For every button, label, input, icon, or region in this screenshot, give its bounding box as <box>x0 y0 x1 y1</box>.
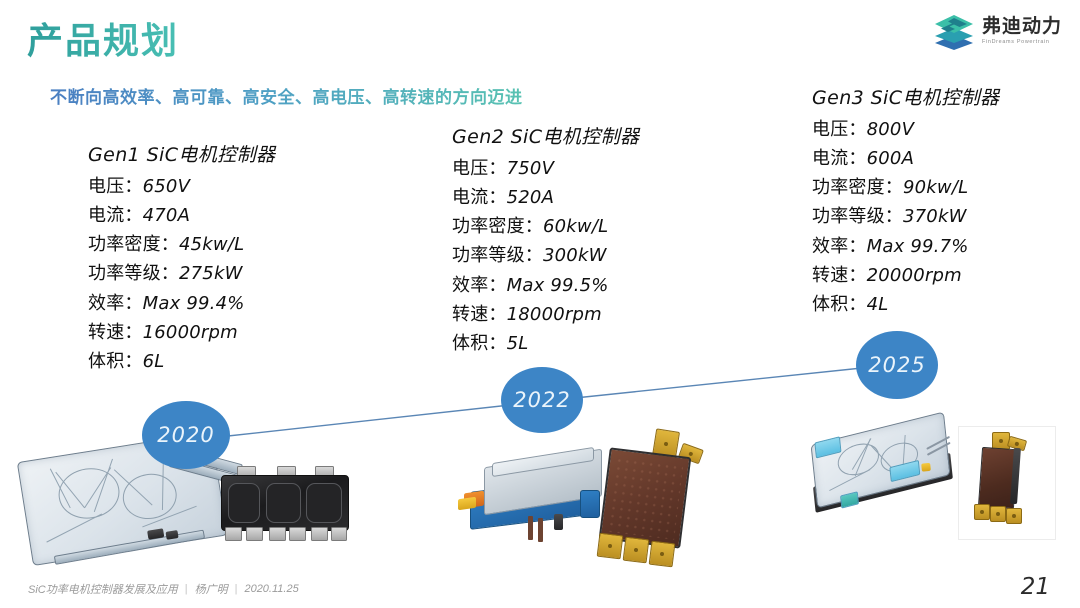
spec-value: 18000rpm <box>507 304 602 325</box>
spec-row-volume: 体积：6L <box>88 347 275 376</box>
spec-row-power-density: 功率密度：45kw/L <box>88 230 275 259</box>
spec-label: 功率等级： <box>452 245 543 266</box>
spec-label: 体积： <box>88 351 143 372</box>
spec-row-speed: 转速：16000rpm <box>88 318 275 347</box>
spec-value: 800V <box>867 119 914 140</box>
spec-value: 20000rpm <box>867 265 962 286</box>
spec-value: 300kW <box>543 245 607 266</box>
spec-row-power-density: 功率密度：60kw/L <box>452 212 639 241</box>
gen2-copper-pinfin-module-photo <box>592 430 704 572</box>
spec-label: 电压： <box>812 119 867 140</box>
year-bubble-2022[interactable]: 2022 <box>501 367 583 433</box>
spec-label: 功率密度： <box>812 177 903 198</box>
footer-date: 2020.11.25 <box>244 583 298 595</box>
gen2-controller-cad-render <box>458 454 608 550</box>
spec-row-efficiency: 效率：Max 99.4% <box>88 289 275 318</box>
spec-row-volume: 体积：5L <box>452 329 639 358</box>
spec-value: 90kw/L <box>903 177 968 198</box>
spec-row-voltage: 电压：750V <box>452 154 639 183</box>
spec-row-power-density: 功率密度：90kw/L <box>812 173 999 202</box>
spec-row-speed: 转速：20000rpm <box>812 261 999 290</box>
spec-value: 6L <box>143 351 165 372</box>
spec-row-voltage: 电压：800V <box>812 115 999 144</box>
company-logo: 弗迪动力 FinDreams Powertrain <box>933 12 1062 50</box>
spec-label: 效率： <box>812 236 867 257</box>
gen3-brown-power-module-photo <box>958 426 1054 538</box>
spec-row-efficiency: 效率：Max 99.7% <box>812 232 999 261</box>
spec-row-voltage: 电压：650V <box>88 172 275 201</box>
spec-label: 功率等级： <box>88 263 179 284</box>
spec-row-efficiency: 效率：Max 99.5% <box>452 271 639 300</box>
spec-row-current: 电流：470A <box>88 201 275 230</box>
spec-label: 转速： <box>812 265 867 286</box>
spec-label: 电流： <box>452 187 507 208</box>
year-bubble-2020[interactable]: 2020 <box>142 401 230 469</box>
spec-block-gen1: Gen1 SiC电机控制器 电压：650V 电流：470A 功率密度：45kw/… <box>88 140 275 376</box>
footer-separator-2: | <box>235 583 238 595</box>
spec-label: 电压： <box>452 158 507 179</box>
spec-value: Max 99.4% <box>143 293 245 314</box>
spec-value: 750V <box>507 158 554 179</box>
spec-value: 16000rpm <box>143 322 238 343</box>
spec-value: 470A <box>143 205 190 226</box>
spec-label: 功率等级： <box>812 206 903 227</box>
spec-label: 电流： <box>88 205 143 226</box>
spec-label: 电压： <box>88 176 143 197</box>
spec-label: 功率密度： <box>452 216 543 237</box>
spec-value: 4L <box>867 294 889 315</box>
spec-value: 60kw/L <box>543 216 608 237</box>
spec-heading-gen3: Gen3 SiC电机控制器 <box>812 83 999 110</box>
gen3-controller-cad-render <box>801 416 961 531</box>
spec-heading-gen1: Gen1 SiC电机控制器 <box>88 140 275 167</box>
year-bubble-2025[interactable]: 2025 <box>856 331 938 399</box>
logo-name-en: FinDreams Powertrain <box>982 39 1062 45</box>
spec-label: 效率： <box>88 293 143 314</box>
spec-row-current: 电流：520A <box>452 183 639 212</box>
year-label: 2020 <box>157 423 214 447</box>
footer: SiC功率电机控制器发展及应用 | 杨广明 | 2020.11.25 <box>28 581 299 597</box>
spec-value: 5L <box>507 333 529 354</box>
spec-row-current: 电流：600A <box>812 144 999 173</box>
spec-row-volume: 体积：4L <box>812 290 999 319</box>
layered-diamond-logo-icon <box>933 12 975 50</box>
spec-label: 功率密度： <box>88 234 179 255</box>
spec-block-gen3: Gen3 SiC电机控制器 电压：800V 电流：600A 功率密度：90kw/… <box>812 83 999 319</box>
gen1-black-power-module-photo <box>221 466 349 544</box>
footer-separator-1: | <box>185 583 188 595</box>
spec-row-speed: 转速：18000rpm <box>452 300 639 329</box>
spec-label: 体积： <box>452 333 507 354</box>
spec-value: 275kW <box>179 263 243 284</box>
spec-label: 电流： <box>812 148 867 169</box>
year-label: 2025 <box>868 353 925 377</box>
year-label: 2022 <box>513 388 570 412</box>
gen2-product-images <box>440 420 700 580</box>
spec-value: 600A <box>867 148 914 169</box>
spec-label: 转速： <box>452 304 507 325</box>
page-title: 产品规划 <box>27 12 179 64</box>
spec-value: 650V <box>143 176 190 197</box>
spec-value: 45kw/L <box>179 234 244 255</box>
spec-label: 效率： <box>452 275 507 296</box>
spec-value: Max 99.7% <box>867 236 969 257</box>
spec-value: 370kW <box>903 206 967 227</box>
spec-value: Max 99.5% <box>507 275 609 296</box>
spec-row-power-level: 功率等级：275kW <box>88 259 275 288</box>
spec-label: 体积： <box>812 294 867 315</box>
spec-row-power-level: 功率等级：300kW <box>452 241 639 270</box>
page-number: 21 <box>1021 574 1050 600</box>
slide-canvas: 产品规划 不断向高效率、高可靠、高安全、高电压、高转速的方向迈进 弗迪动力 Fi… <box>0 0 1080 608</box>
page-subtitle: 不断向高效率、高可靠、高安全、高电压、高转速的方向迈进 <box>50 83 523 108</box>
logo-name-cn: 弗迪动力 <box>982 17 1062 37</box>
spec-value: 520A <box>507 187 554 208</box>
spec-heading-gen2: Gen2 SiC电机控制器 <box>452 122 639 149</box>
spec-block-gen2: Gen2 SiC电机控制器 电压：750V 电流：520A 功率密度：60kw/… <box>452 122 639 358</box>
spec-row-power-level: 功率等级：370kW <box>812 202 999 231</box>
gen3-product-images <box>806 410 1076 560</box>
footer-doc-title: SiC功率电机控制器发展及应用 <box>28 581 178 597</box>
spec-label: 转速： <box>88 322 143 343</box>
footer-author: 杨广明 <box>195 581 228 597</box>
